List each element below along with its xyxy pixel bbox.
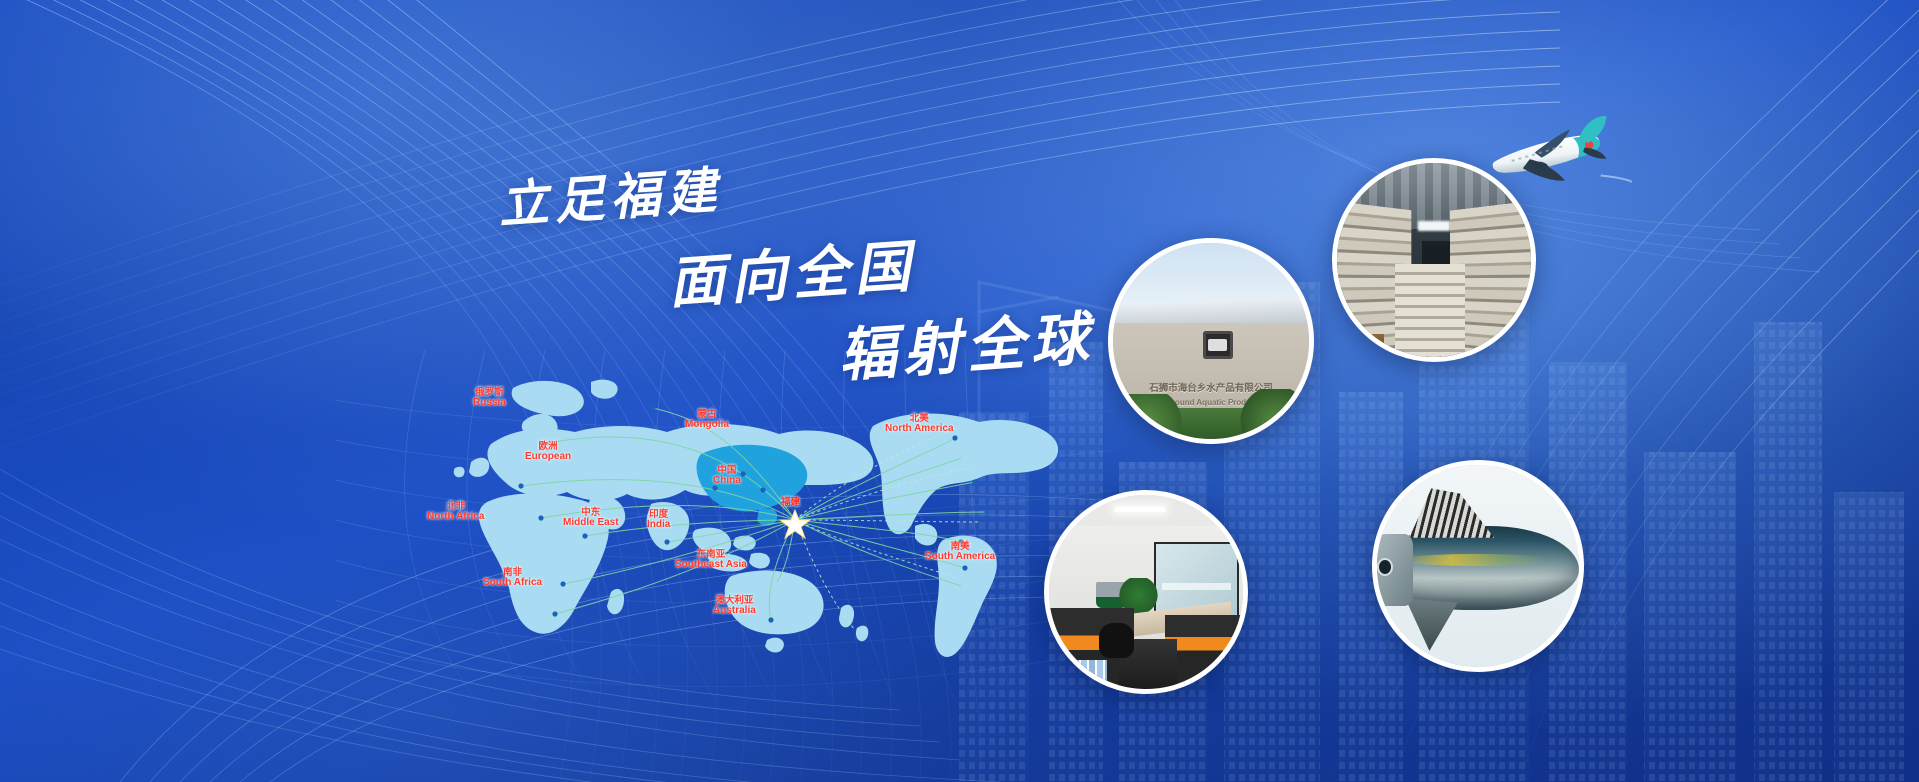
map-label-china[interactable]: 中国 China	[713, 466, 741, 486]
map-label-south-africa-en: South Africa	[483, 578, 542, 588]
map-label-south-africa[interactable]: 南非 South Africa	[483, 568, 542, 588]
map-label-india[interactable]: 印度 India	[647, 510, 670, 530]
photo-company-signboard[interactable]: 石狮市海台乡水产品有限公司 Shishi Seabound Aquatic Pr…	[1108, 238, 1314, 444]
map-label-mongolia[interactable]: 蒙古 Mongolia	[685, 410, 729, 430]
airplane-icon	[1473, 110, 1633, 210]
office-chair-bag	[1099, 623, 1134, 658]
tuna-lateral-stripe	[1401, 554, 1550, 566]
cold-storage-light	[1418, 221, 1449, 231]
map-label-south-america-en: South America	[925, 552, 995, 562]
map-label-european-en: European	[525, 452, 571, 462]
cold-storage-pallet	[1349, 334, 1384, 353]
photo-tuna-fish[interactable]	[1372, 460, 1584, 672]
map-label-china-en: China	[713, 476, 741, 486]
headline-line-1: 立足福建	[496, 150, 724, 237]
map-label-australia-en: Australia	[713, 606, 756, 616]
cold-storage-boxes-center	[1395, 264, 1465, 357]
map-label-north-america-en: North America	[885, 424, 954, 434]
map-label-southeast-asia[interactable]: 东南亚 Southeast Asia	[675, 550, 747, 570]
map-label-middle-east-en: Middle East	[563, 518, 619, 528]
map-label-southeast-asia-en: Southeast Asia	[675, 560, 747, 570]
map-label-hub-fujian-cn: 福建	[781, 498, 800, 508]
map-label-north-africa[interactable]: 北非 North Africa	[427, 502, 484, 522]
map-label-european[interactable]: 欧洲 European	[525, 442, 571, 462]
map-label-north-africa-en: North Africa	[427, 512, 484, 522]
office-cubicle-right	[1165, 615, 1248, 689]
headline-line-2: 面向全国	[665, 221, 918, 319]
map-label-russia[interactable]: 俄罗斯 Russia	[473, 388, 506, 408]
map-label-north-america[interactable]: 北美 North America	[885, 414, 954, 434]
map-label-middle-east[interactable]: 中东 Middle East	[563, 508, 619, 528]
photo-office-interior[interactable]	[1044, 490, 1248, 694]
signboard-lamp	[1203, 331, 1232, 358]
map-label-india-en: India	[647, 520, 670, 530]
signboard-hedge	[1113, 408, 1309, 439]
map-label-mongolia-en: Mongolia	[685, 420, 729, 430]
world-distribution-map: 俄罗斯 Russia 蒙古 Mongolia 中国 China 欧洲 Europ…	[395, 370, 1055, 680]
office-ceiling	[1049, 495, 1243, 526]
map-label-russia-en: Russia	[473, 398, 506, 408]
promo-banner: 立足福建 面向全国 辐射全球	[0, 0, 1919, 782]
tuna-head	[1372, 534, 1413, 607]
map-label-australia[interactable]: 澳大利亚 Australia	[713, 596, 756, 616]
map-label-south-america[interactable]: 南美 South America	[925, 542, 995, 562]
office-file-folders	[1057, 660, 1107, 683]
map-label-hub-fujian[interactable]: 福建	[781, 498, 800, 508]
